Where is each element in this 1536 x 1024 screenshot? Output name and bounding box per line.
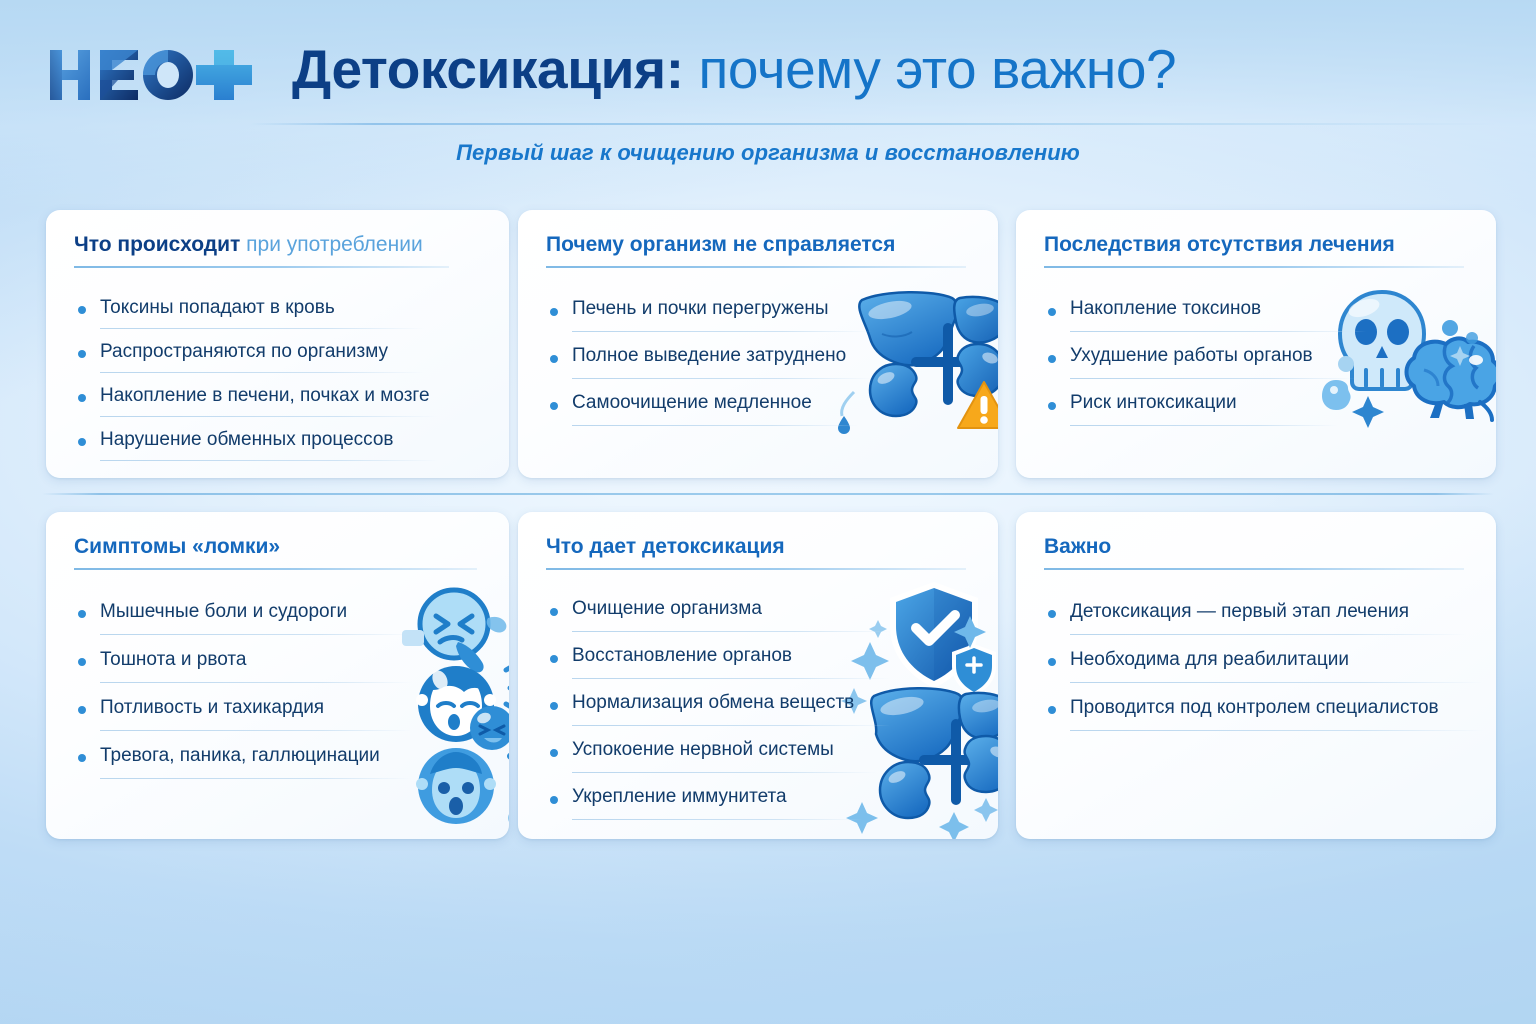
card-detox-benefits[interactable]: Что дает детоксикация bbox=[518, 512, 998, 839]
list-item-label: Риск интоксикации bbox=[1070, 392, 1237, 414]
list-item-underline bbox=[100, 460, 438, 461]
list-item: Нормализация обмена веществ bbox=[546, 682, 978, 729]
list-item-underline bbox=[572, 772, 876, 773]
card-title-rule bbox=[546, 568, 966, 570]
list-item: Тревога, паника, галлюцинации bbox=[74, 734, 489, 782]
card-important[interactable]: Важно Детоксикация — первый этап лечения… bbox=[1016, 512, 1496, 839]
list-item-underline bbox=[100, 682, 412, 683]
card-title-strong: Почему организм не справляется bbox=[546, 233, 895, 256]
list-item: Накопление в печени, почках и мозге bbox=[74, 376, 489, 420]
card-bullets: Печень и почки перегружены Полное выведе… bbox=[546, 288, 978, 429]
list-item-underline bbox=[1070, 730, 1484, 731]
card-bullets: Токсины попадают в кровь Распространяютс… bbox=[74, 288, 489, 464]
list-item: Самоочищение медленное bbox=[546, 382, 978, 429]
list-item-underline bbox=[572, 725, 890, 726]
list-item-label: Очищение организма bbox=[572, 598, 762, 620]
bullet-dot bbox=[78, 754, 86, 762]
list-item: Нарушение обменных процессов bbox=[74, 420, 489, 464]
list-item-underline bbox=[572, 378, 872, 379]
card-title-strong: Что дает детоксикация bbox=[546, 535, 785, 558]
list-item-label: Проводится под контролем специалистов bbox=[1070, 697, 1439, 719]
list-item-underline bbox=[100, 730, 412, 731]
bullet-dot bbox=[1048, 402, 1056, 410]
list-item-label: Восстановление органов bbox=[572, 645, 792, 667]
bullet-dot bbox=[1048, 308, 1056, 316]
card-title: Почему организм не справляется bbox=[546, 232, 974, 258]
bullet-dot bbox=[550, 655, 558, 663]
card-bullets: Накопление токсинов Ухудшение работы орг… bbox=[1044, 288, 1476, 429]
list-item-underline bbox=[1070, 682, 1484, 683]
list-item: Потливость и тахикардия bbox=[74, 686, 489, 734]
list-item-underline bbox=[1070, 425, 1338, 426]
list-item-label: Нормализация обмена веществ bbox=[572, 692, 854, 714]
list-item: Укрепление иммунитета bbox=[546, 776, 978, 823]
list-item: Риск интоксикации bbox=[1044, 382, 1476, 429]
card-title-strong: Последствия отсутствия лечения bbox=[1044, 233, 1395, 256]
card-title-strong: Симптомы «ломки» bbox=[74, 535, 280, 558]
list-item-label: Мышечные боли и судороги bbox=[100, 601, 347, 623]
list-item-underline bbox=[572, 678, 890, 679]
list-item-underline bbox=[100, 372, 424, 373]
card-consequences[interactable]: Последствия отсутствия лечения bbox=[1016, 210, 1496, 478]
list-item: Успокоение нервной системы bbox=[546, 729, 978, 776]
bullet-dot bbox=[78, 706, 86, 714]
bullet-dot bbox=[78, 394, 86, 402]
list-item-underline bbox=[100, 634, 412, 635]
list-item-label: Тошнота и рвота bbox=[100, 649, 246, 671]
card-title-strong: Что происходит bbox=[74, 233, 240, 256]
list-item: Тошнота и рвота bbox=[74, 638, 489, 686]
list-item-underline bbox=[100, 778, 412, 779]
card-bullets: Очищение организма Восстановление органо… bbox=[546, 588, 978, 823]
list-item-label: Полное выведение затруднено bbox=[572, 345, 846, 367]
bullet-dot bbox=[1048, 706, 1056, 714]
list-item: Полное выведение затруднено bbox=[546, 335, 978, 382]
bullet-dot bbox=[550, 749, 558, 757]
list-item: Токсины попадают в кровь bbox=[74, 288, 489, 332]
list-item: Проводится под контролем специалистов bbox=[1044, 686, 1476, 734]
bullet-dot bbox=[78, 350, 86, 358]
list-item-label: Укрепление иммунитета bbox=[572, 786, 787, 808]
list-item-underline bbox=[100, 328, 424, 329]
bullet-dot bbox=[550, 355, 558, 363]
bullet-dot bbox=[550, 608, 558, 616]
list-item-label: Накопление токсинов bbox=[1070, 298, 1261, 320]
card-title-rule bbox=[74, 266, 449, 268]
list-item-underline bbox=[572, 331, 872, 332]
card-title-rule bbox=[1044, 568, 1464, 570]
list-item: Необходима для реабилитации bbox=[1044, 638, 1476, 686]
list-item-underline bbox=[572, 631, 890, 632]
bullet-dot bbox=[78, 306, 86, 314]
list-item-underline bbox=[572, 425, 858, 426]
list-item-underline bbox=[1070, 634, 1466, 635]
list-item: Накопление токсинов bbox=[1044, 288, 1476, 335]
card-title-strong: Важно bbox=[1044, 535, 1111, 558]
bullet-dot bbox=[550, 308, 558, 316]
list-item-label: Распространяются по организму bbox=[100, 341, 388, 363]
cards-grid: Что происходит при употреблении bbox=[0, 0, 1536, 1024]
list-item-label: Ухудшение работы органов bbox=[1070, 345, 1313, 367]
card-bullets: Детоксикация — первый этап лечения Необх… bbox=[1044, 590, 1476, 734]
card-title-light: при употреблении bbox=[240, 233, 422, 256]
bullet-dot bbox=[550, 702, 558, 710]
card-title: Симптомы «ломки» bbox=[74, 534, 485, 560]
list-item: Ухудшение работы органов bbox=[1044, 335, 1476, 382]
bullet-dot bbox=[78, 438, 86, 446]
card-title: Последствия отсутствия лечения bbox=[1044, 232, 1472, 258]
list-item-label: Нарушение обменных процессов bbox=[100, 429, 394, 451]
card-title-rule bbox=[74, 568, 477, 570]
card-withdrawal-symptoms[interactable]: Симптомы «ломки» bbox=[46, 512, 509, 839]
list-item-label: Успокоение нервной системы bbox=[572, 739, 834, 761]
list-item-label: Тревога, паника, галлюцинации bbox=[100, 745, 380, 767]
card-bullets: Мышечные боли и судороги Тошнота и рвота… bbox=[74, 590, 489, 782]
card-title-rule bbox=[546, 266, 966, 268]
bullet-dot bbox=[78, 658, 86, 666]
list-item-label: Детоксикация — первый этап лечения bbox=[1070, 601, 1409, 623]
list-item-label: Токсины попадают в кровь bbox=[100, 297, 335, 319]
bullet-dot bbox=[550, 402, 558, 410]
list-item-underline bbox=[1070, 378, 1356, 379]
card-title: Важно bbox=[1044, 534, 1472, 560]
list-item-label: Печень и почки перегружены bbox=[572, 298, 829, 320]
list-item-label: Самоочищение медленное bbox=[572, 392, 812, 414]
list-item: Распространяются по организму bbox=[74, 332, 489, 376]
list-item: Детоксикация — первый этап лечения bbox=[1044, 590, 1476, 638]
card-why-body-fails[interactable]: Почему организм не справляется bbox=[518, 210, 998, 478]
list-item-underline bbox=[572, 819, 862, 820]
list-item-underline bbox=[1070, 331, 1366, 332]
card-what-happens[interactable]: Что происходит при употреблении bbox=[46, 210, 509, 478]
list-item-label: Накопление в печени, почках и мозге bbox=[100, 385, 430, 407]
bullet-dot bbox=[1048, 658, 1056, 666]
card-title: Что происходит при употреблении bbox=[74, 232, 485, 258]
list-item: Печень и почки перегружены bbox=[546, 288, 978, 335]
list-item-label: Необходима для реабилитации bbox=[1070, 649, 1349, 671]
bullet-dot bbox=[550, 796, 558, 804]
list-item: Восстановление органов bbox=[546, 635, 978, 682]
bullet-dot bbox=[78, 610, 86, 618]
card-title: Что дает детоксикация bbox=[546, 534, 974, 560]
list-item: Мышечные боли и судороги bbox=[74, 590, 489, 638]
bullet-dot bbox=[1048, 610, 1056, 618]
list-item-underline bbox=[100, 416, 438, 417]
card-title-rule bbox=[1044, 266, 1464, 268]
list-item-label: Потливость и тахикардия bbox=[100, 697, 324, 719]
list-item: Очищение организма bbox=[546, 588, 978, 635]
bullet-dot bbox=[1048, 355, 1056, 363]
